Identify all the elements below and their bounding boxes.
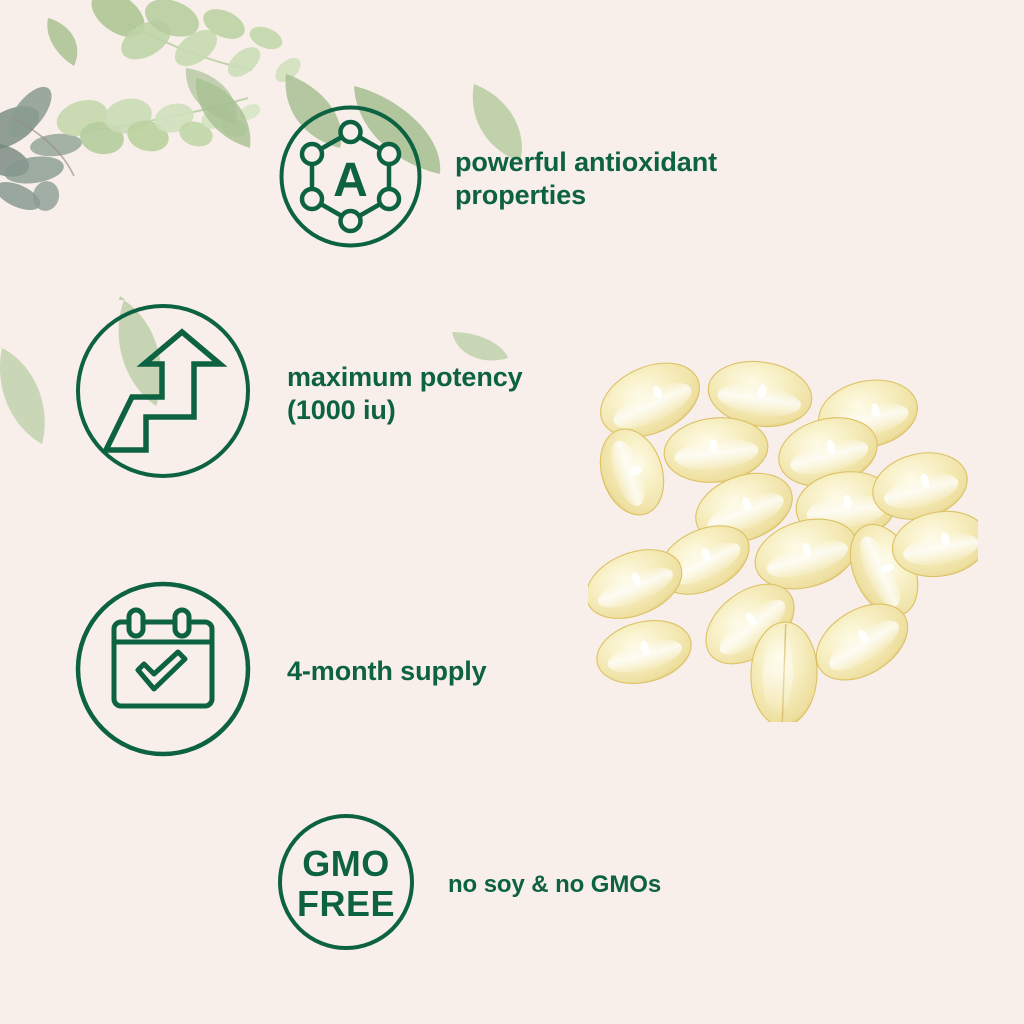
feature-label-potency: maximum potency (1000 iu) [287, 361, 523, 427]
feature-row-antioxidant: A powerful antioxidant properties [278, 104, 717, 254]
product-infographic-canvas: A powerful antioxidant properties maximu… [0, 0, 1024, 1024]
vitamin-letter: A [333, 154, 368, 207]
gmo-free-badge-icon: GMO FREE [276, 812, 416, 957]
vitamin-a-hexagon-icon: A [278, 104, 423, 254]
upward-staircase-arrow-icon [74, 302, 252, 485]
gmo-badge-line1: GMO [302, 843, 390, 884]
calendar-check-icon [74, 580, 252, 763]
feature-label-supply: 4-month supply [287, 655, 487, 688]
feature-label-gmo-free: no soy & no GMOs [448, 870, 661, 899]
leaf-sprig-eucalyptus [52, 94, 263, 157]
feature-label-antioxidant: powerful antioxidant properties [455, 146, 717, 212]
gmo-badge-line2: FREE [297, 883, 395, 924]
feature-row-supply: 4-month supply [74, 580, 487, 763]
feature-row-potency: maximum potency (1000 iu) [74, 302, 523, 485]
softgel-capsule-cluster [588, 352, 978, 722]
feature-row-gmo-free: GMO FREE no soy & no GMOs [276, 812, 661, 957]
leaf-sprig-upper-left [0, 80, 83, 216]
leaf-sprig-top [83, 0, 305, 87]
